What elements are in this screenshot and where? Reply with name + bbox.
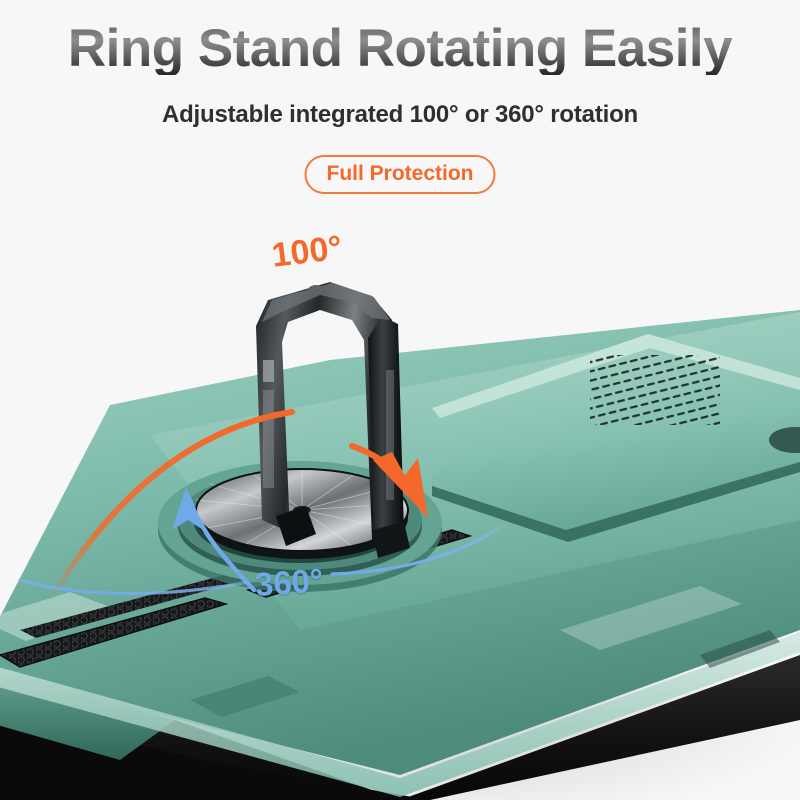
product-feature-image: Ring Stand Rotating Easily Adjustable in… (0, 0, 800, 800)
product-photo (0, 200, 800, 800)
slider-grip-texture (590, 355, 720, 425)
ring-top-nub (308, 285, 324, 295)
page-subtitle: Adjustable integrated 100° or 360° rotat… (0, 101, 800, 129)
product-illustration (0, 200, 800, 800)
status-badge: Full Protection (305, 155, 496, 194)
ring-left-specular (263, 390, 274, 488)
page-title: Ring Stand Rotating Easily (0, 22, 800, 75)
ring-left-specular-2 (263, 360, 274, 382)
